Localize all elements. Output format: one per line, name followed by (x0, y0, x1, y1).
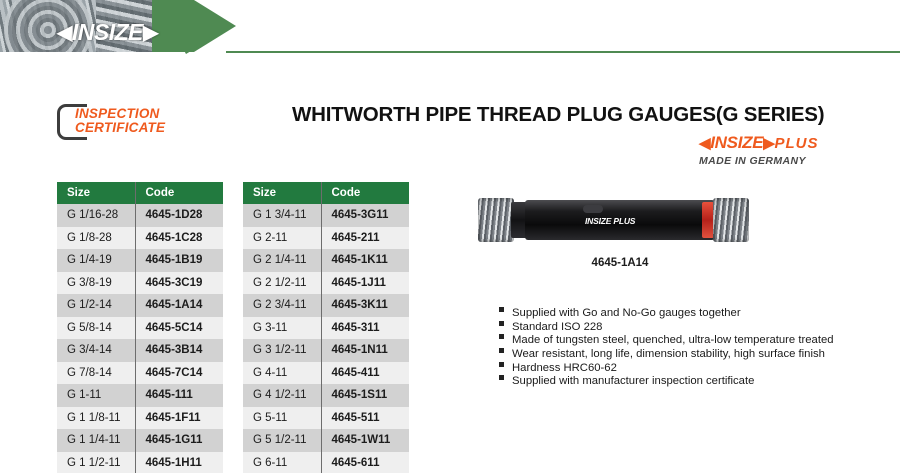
plus-brand-name: INSIZE (710, 133, 763, 152)
cell-size: G 2-11 (243, 227, 321, 250)
logo-left-arrow-icon: ◀ (57, 22, 72, 44)
product-image: INSIZE PLUS (470, 186, 770, 256)
certificate-line-1: INSPECTION (75, 107, 165, 121)
feature-item: Hardness HRC60-62 (499, 358, 894, 372)
feature-item: Made of tungsten steel, quenched, ultra-… (499, 330, 894, 344)
square-bullet-icon (499, 321, 504, 326)
cell-code: 4645-1F11 (135, 407, 223, 430)
insize-plus-wordmark: ◀INSIZE▶PLUS (699, 134, 899, 151)
inspection-certificate-badge: INSPECTION CERTIFICATE (57, 101, 257, 143)
features-list: Supplied with Go and No-Go gauges togeth… (499, 303, 894, 385)
header-size: Size (243, 182, 321, 204)
table-row: G 1-114645-111 (57, 384, 223, 407)
cell-size: G 1-11 (57, 384, 135, 407)
table-row: G 3 1/2-114645-1N11 (243, 339, 409, 362)
cell-code: 4645-1C28 (135, 227, 223, 250)
table-row: G 1/4-194645-1B19 (57, 249, 223, 272)
header-code: Code (321, 182, 409, 204)
table-row: G 2 3/4-114645-3K11 (243, 294, 409, 317)
gauge-label-suffix: PLUS (613, 216, 635, 226)
cell-code: 4645-1G11 (135, 429, 223, 452)
cell-size: G 2 1/4-11 (243, 249, 321, 272)
gauge-brand-label: INSIZE PLUS (585, 216, 635, 226)
table-row: G 7/8-144645-7C14 (57, 362, 223, 385)
gauge-thread-right (713, 198, 749, 242)
cell-size: G 1 3/4-11 (243, 204, 321, 227)
cell-code: 4645-3K11 (321, 294, 409, 317)
feature-text: Supplied with manufacturer inspection ce… (512, 375, 754, 387)
cell-size: G 1/4-19 (57, 249, 135, 272)
cell-size: G 7/8-14 (57, 362, 135, 385)
cell-size: G 1 1/2-11 (57, 452, 135, 473)
gauge-label-name: INSIZE (585, 216, 611, 226)
table-body-left: G 1/16-284645-1D28G 1/8-284645-1C28G 1/4… (57, 204, 223, 473)
certificate-line-2: CERTIFICATE (75, 121, 165, 135)
cell-code: 4645-1H11 (135, 452, 223, 473)
insize-plus-logo: ◀INSIZE▶PLUS MADE IN GERMANY (699, 134, 899, 167)
table-row: G 5-114645-511 (243, 407, 409, 430)
table-row: G 6-114645-611 (243, 452, 409, 473)
cell-size: G 2 3/4-11 (243, 294, 321, 317)
table-body-right: G 1 3/4-114645-3G11G 2-114645-211G 2 1/4… (243, 204, 409, 473)
table-row: G 4-114645-411 (243, 362, 409, 385)
table-header-row: Size Code (243, 182, 409, 204)
size-code-table-left: Size Code G 1/16-284645-1D28G 1/8-284645… (57, 182, 223, 473)
cell-code: 4645-1S11 (321, 384, 409, 407)
table-row: G 4 1/2-114645-1S11 (243, 384, 409, 407)
table-row: G 2-114645-211 (243, 227, 409, 250)
cell-size: G 5 1/2-11 (243, 429, 321, 452)
cell-code: 4645-411 (321, 362, 409, 385)
feature-item: Standard ISO 228 (499, 317, 894, 331)
cell-code: 4645-1K11 (321, 249, 409, 272)
table-row: G 1 1/4-114645-1G11 (57, 429, 223, 452)
top-banner: ◀INSIZE▶ (0, 0, 900, 54)
logo-right-arrow-icon: ▶ (143, 22, 158, 44)
cell-code: 4645-1W11 (321, 429, 409, 452)
made-in-germany-label: MADE IN GERMANY (699, 155, 899, 167)
cell-code: 4645-1J11 (321, 272, 409, 295)
cell-size: G 6-11 (243, 452, 321, 473)
cell-size: G 5-11 (243, 407, 321, 430)
header-size: Size (57, 182, 135, 204)
banner-horizontal-rule (226, 51, 900, 53)
catalog-page: ◀INSIZE▶ INSPECTION CERTIFICATE WHITWORT… (0, 0, 900, 473)
table-row: G 3/4-144645-3B14 (57, 339, 223, 362)
logo-wordmark: INSIZE (72, 19, 143, 45)
plus-left-arrow-icon: ◀ (699, 135, 710, 152)
cell-size: G 4 1/2-11 (243, 384, 321, 407)
table-row: G 1/2-144645-1A14 (57, 294, 223, 317)
cell-code: 4645-311 (321, 317, 409, 340)
gauge-window (583, 205, 603, 213)
cell-code: 4645-3B14 (135, 339, 223, 362)
size-code-table-right: Size Code G 1 3/4-114645-3G11G 2-114645-… (243, 182, 409, 473)
cell-size: G 4-11 (243, 362, 321, 385)
header-code: Code (135, 182, 223, 204)
cell-code: 4645-611 (321, 452, 409, 473)
square-bullet-icon (499, 362, 504, 367)
cell-size: G 3/4-14 (57, 339, 135, 362)
cell-size: G 5/8-14 (57, 317, 135, 340)
cell-size: G 1 1/4-11 (57, 429, 135, 452)
cell-code: 4645-1A14 (135, 294, 223, 317)
square-bullet-icon (499, 307, 504, 312)
product-caption: 4645-1A14 (470, 257, 770, 269)
cell-size: G 3/8-19 (57, 272, 135, 295)
cell-code: 4645-1D28 (135, 204, 223, 227)
cell-code: 4645-111 (135, 384, 223, 407)
cell-code: 4645-7C14 (135, 362, 223, 385)
square-bullet-icon (499, 375, 504, 380)
cell-size: G 2 1/2-11 (243, 272, 321, 295)
insize-banner-logo: ◀INSIZE▶ (57, 21, 158, 44)
cell-code: 4645-511 (321, 407, 409, 430)
table-row: G 1/8-284645-1C28 (57, 227, 223, 250)
table-row: G 1 1/2-114645-1H11 (57, 452, 223, 473)
cell-code: 4645-1B19 (135, 249, 223, 272)
table-row: G 1/16-284645-1D28 (57, 204, 223, 227)
feature-item: Supplied with manufacturer inspection ce… (499, 371, 894, 385)
cell-size: G 3 1/2-11 (243, 339, 321, 362)
cell-size: G 1/16-28 (57, 204, 135, 227)
cell-code: 4645-3C19 (135, 272, 223, 295)
square-bullet-icon (499, 348, 504, 353)
plus-suffix: PLUS (775, 135, 819, 152)
table-row: G 3/8-194645-3C19 (57, 272, 223, 295)
certificate-text: INSPECTION CERTIFICATE (75, 107, 165, 135)
page-title: WHITWORTH PIPE THREAD PLUG GAUGES(G SERI… (292, 103, 824, 127)
plus-right-arrow-icon: ▶ (763, 135, 774, 152)
square-bullet-icon (499, 334, 504, 339)
cell-size: G 1/8-28 (57, 227, 135, 250)
table-row: G 2 1/4-114645-1K11 (243, 249, 409, 272)
table-row: G 5/8-144645-5C14 (57, 317, 223, 340)
cell-size: G 3-11 (243, 317, 321, 340)
cell-code: 4645-3G11 (321, 204, 409, 227)
table-row: G 3-114645-311 (243, 317, 409, 340)
table-row: G 2 1/2-114645-1J11 (243, 272, 409, 295)
table-row: G 1 1/8-114645-1F11 (57, 407, 223, 430)
cell-size: G 1 1/8-11 (57, 407, 135, 430)
gauge-thread-left (478, 198, 514, 242)
table-row: G 1 3/4-114645-3G11 (243, 204, 409, 227)
cell-code: 4645-211 (321, 227, 409, 250)
cell-size: G 1/2-14 (57, 294, 135, 317)
cell-code: 4645-5C14 (135, 317, 223, 340)
cell-code: 4645-1N11 (321, 339, 409, 362)
table-row: G 5 1/2-114645-1W11 (243, 429, 409, 452)
feature-item: Wear resistant, long life, dimension sta… (499, 344, 894, 358)
table-header-row: Size Code (57, 182, 223, 204)
feature-item: Supplied with Go and No-Go gauges togeth… (499, 303, 894, 317)
